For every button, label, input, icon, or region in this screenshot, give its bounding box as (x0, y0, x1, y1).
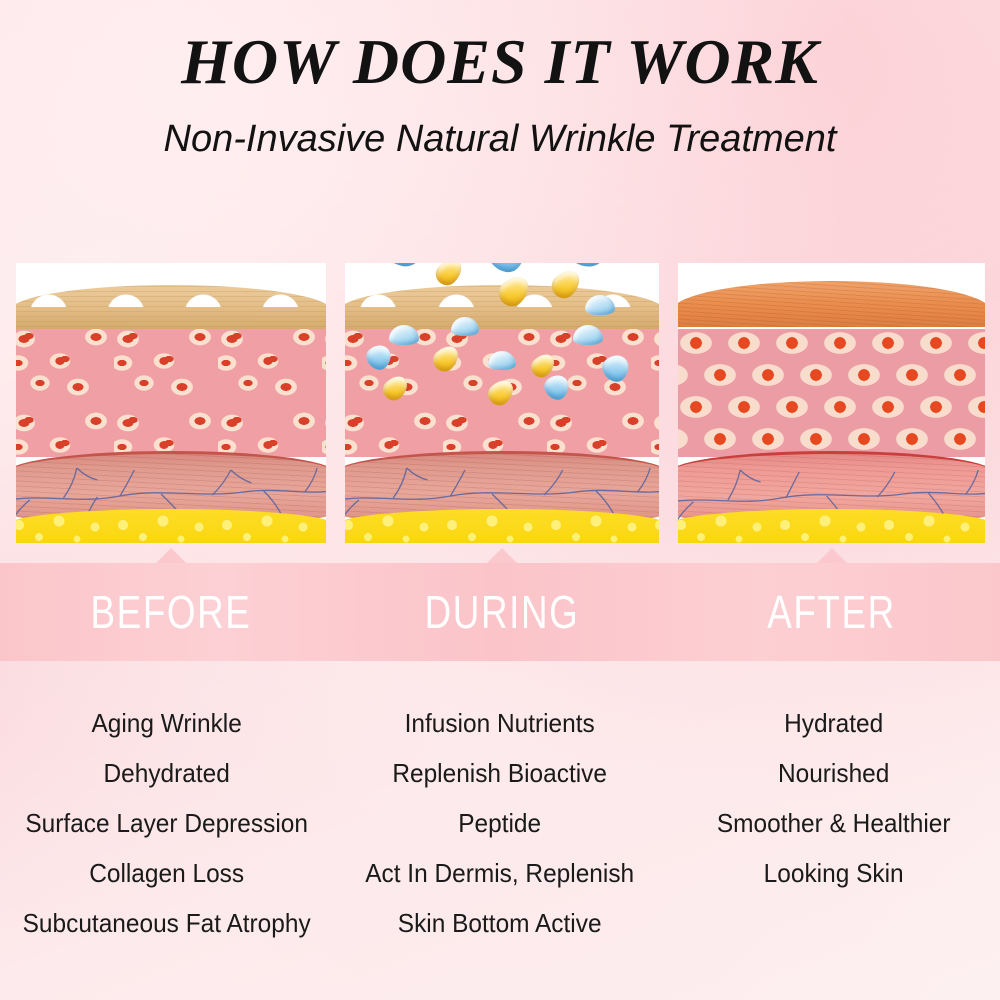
skin-diagram-during (345, 263, 659, 543)
collagen-cells-irregular (16, 329, 326, 457)
benefits-column-during: Infusion Nutrients Replenish Bioactive P… (333, 690, 666, 970)
skin-diagram-before (16, 263, 326, 543)
benefit-item: Peptide (343, 810, 656, 836)
benefit-item: Dehydrated (10, 760, 323, 786)
subcutaneous-fat-layer-after (678, 509, 985, 543)
subcutaneous-fat-layer-before (16, 509, 326, 543)
benefit-item: Infusion Nutrients (343, 710, 656, 736)
benefit-item: Subcutaneous Fat Atrophy (10, 910, 323, 936)
cell-nuclei-regular (678, 329, 985, 457)
benefits-columns: Aging Wrinkle Dehydrated Surface Layer D… (0, 690, 1000, 970)
benefit-item: Looking Skin (677, 860, 990, 886)
benefit-item: Aging Wrinkle (10, 710, 323, 736)
benefit-item: Hydrated (677, 710, 990, 736)
epidermis-layer-smooth (678, 281, 985, 327)
collagen-cells-regular (678, 329, 985, 457)
page-title: HOW DOES IT WORK (0, 0, 1000, 94)
stage-label-band: BEFORE DURING AFTER (0, 563, 1000, 661)
illustration-panels (0, 263, 1000, 543)
cell-nuclei-irregular-during (345, 329, 659, 457)
stage-label-during: DURING (376, 563, 627, 661)
dermis-layer-during (345, 329, 659, 457)
benefit-item: Act In Dermis, Replenish (343, 860, 656, 886)
skin-diagram-after (678, 263, 985, 543)
cell-nuclei-irregular (16, 329, 326, 457)
notch-during-icon (487, 548, 517, 563)
benefits-column-before: Aging Wrinkle Dehydrated Surface Layer D… (0, 690, 333, 970)
wrinkle-surface-mask (16, 277, 326, 307)
collagen-cells-irregular-during (345, 329, 659, 457)
benefit-item: Collagen Loss (10, 860, 323, 886)
notch-after-icon (817, 548, 847, 563)
header: HOW DOES IT WORK Non-Invasive Natural Wr… (0, 0, 1000, 161)
page-subtitle: Non-Invasive Natural Wrinkle Treatment (0, 94, 1000, 161)
infographic-page: HOW DOES IT WORK Non-Invasive Natural Wr… (0, 0, 1000, 1000)
stage-label-before: BEFORE (47, 563, 295, 661)
subcutaneous-fat-layer-during (345, 509, 659, 543)
notch-before-icon (156, 548, 186, 563)
dermis-layer-after (678, 329, 985, 457)
benefit-item: Nourished (677, 760, 990, 786)
dermis-layer-before (16, 329, 326, 457)
benefit-item: Surface Layer Depression (10, 810, 323, 836)
benefit-item: Smoother & Healthier (677, 810, 990, 836)
benefit-item: Skin Bottom Active (343, 910, 656, 936)
benefit-item: Replenish Bioactive (343, 760, 656, 786)
wrinkle-surface-mask-during (345, 277, 659, 307)
benefits-column-after: Hydrated Nourished Smoother & Healthier … (667, 690, 1000, 970)
stage-label-after: AFTER (709, 563, 955, 661)
